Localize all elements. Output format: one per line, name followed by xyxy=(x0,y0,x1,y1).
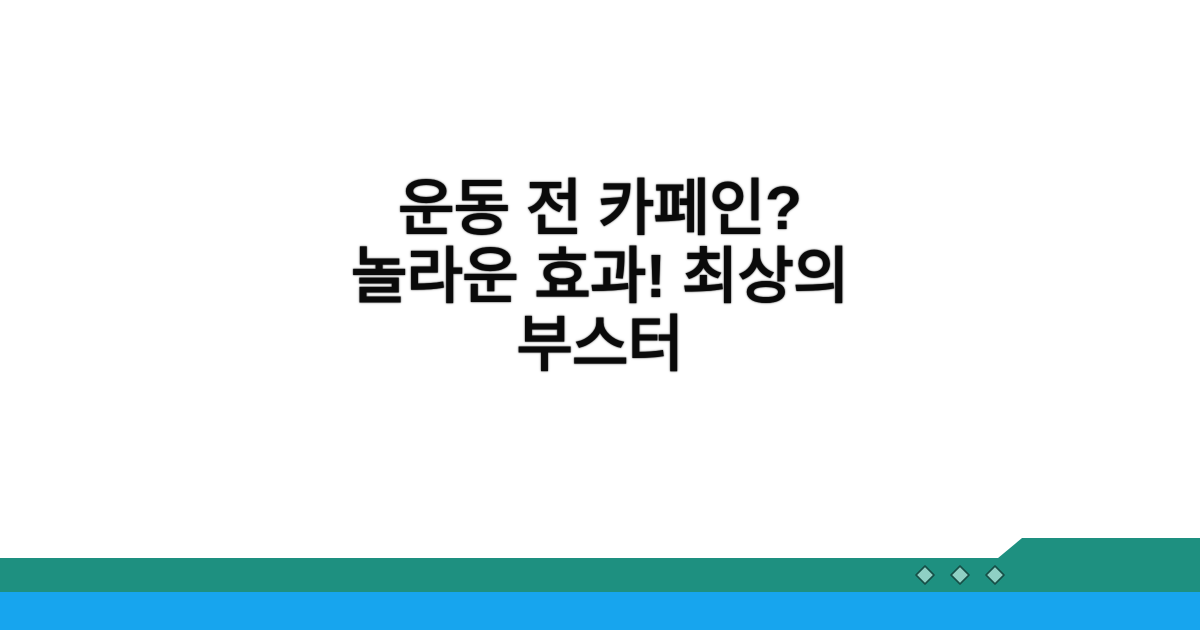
thumbnail-card: 운동 전 카페인? 놀라운 효과! 최상의 부스터 xyxy=(0,0,1200,630)
page-title-line-3: 부스터 xyxy=(150,310,1050,378)
footer-decoration-group xyxy=(914,563,1006,587)
diamond-icon xyxy=(949,564,971,586)
diamond-icon xyxy=(914,564,936,586)
page-title-line-2: 놀라운 효과! 최상의 xyxy=(150,242,1050,310)
title-block: 운동 전 카페인? 놀라운 효과! 최상의 부스터 xyxy=(0,0,1200,558)
page-title: 운동 전 카페인? 놀라운 효과! 최상의 부스터 xyxy=(150,174,1050,379)
footer-bands xyxy=(0,520,1200,630)
page-title-line-1: 운동 전 카페인? xyxy=(150,174,1050,242)
footer-teal-band xyxy=(0,520,1200,592)
footer-blue-band xyxy=(0,592,1200,630)
diamond-icon xyxy=(984,564,1006,586)
